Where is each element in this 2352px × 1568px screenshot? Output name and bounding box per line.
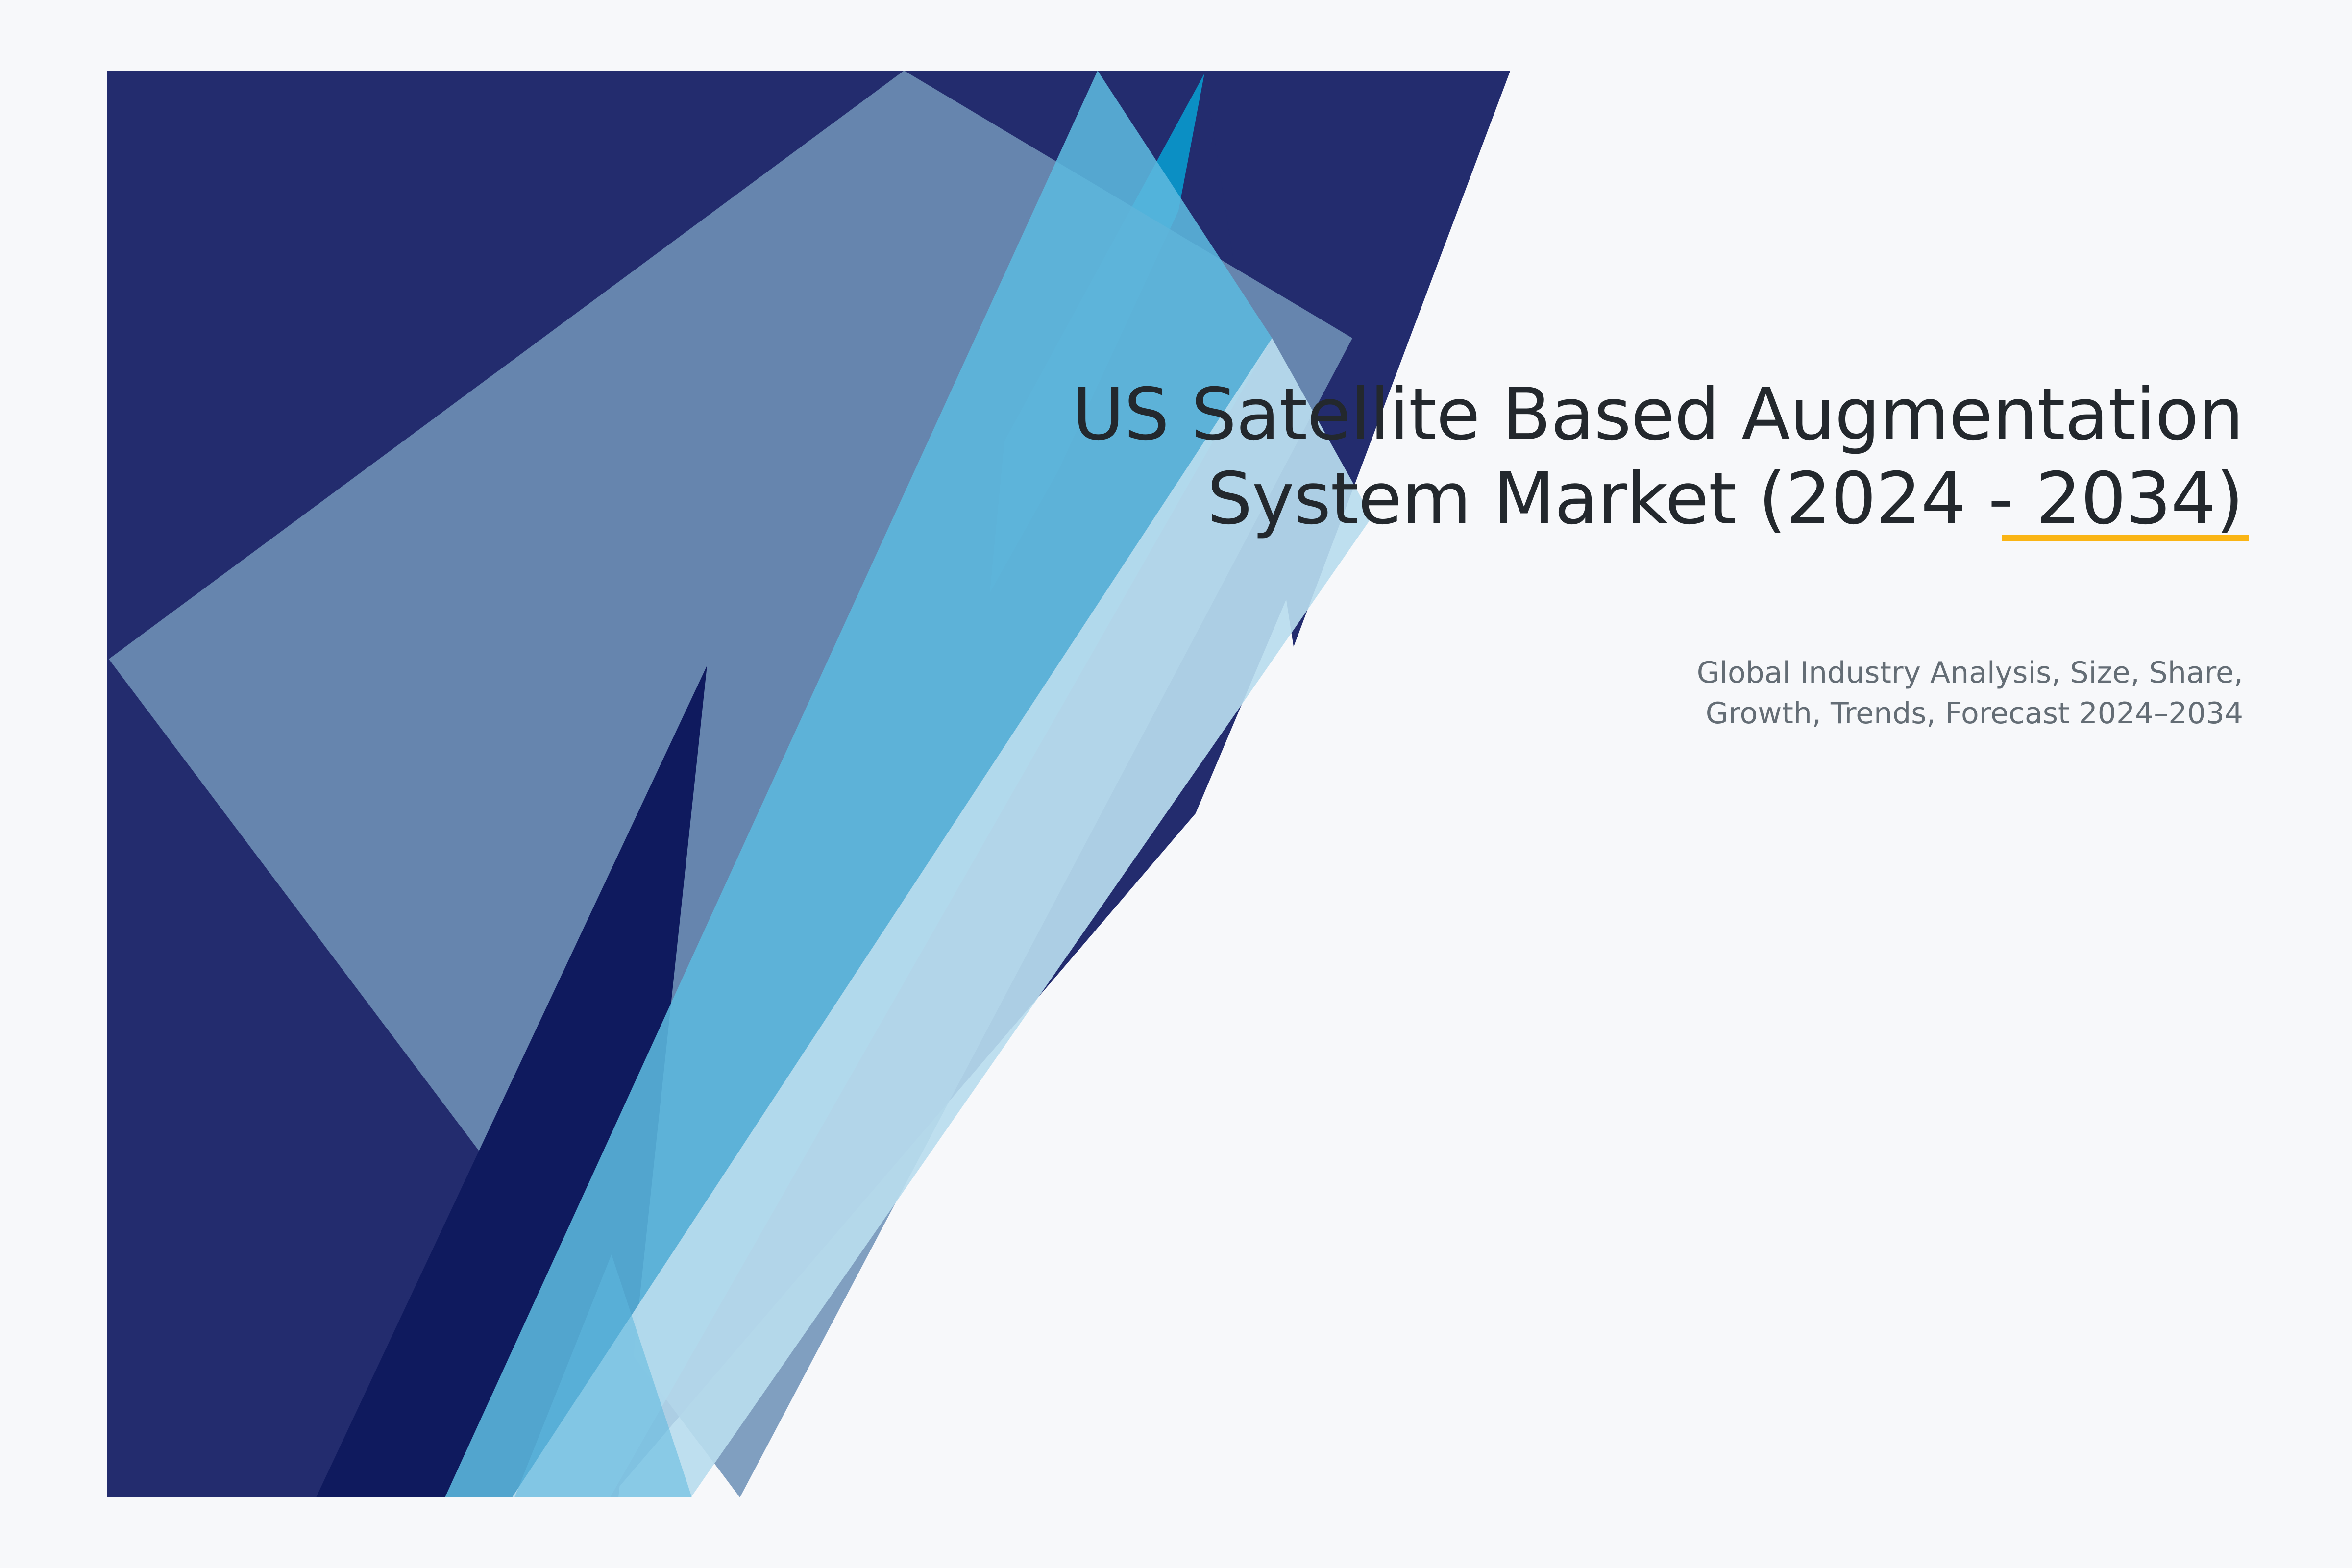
page-title: US Satellite Based Augmentation System M… — [931, 372, 2243, 541]
title-block: US Satellite Based Augmentation System M… — [931, 372, 2243, 541]
cover-artwork — [0, 0, 2352, 1568]
report-cover-page: US Satellite Based Augmentation System M… — [0, 0, 2352, 1568]
page-subtitle: Global Industry Analysis, Size, Share, G… — [1274, 653, 2243, 734]
